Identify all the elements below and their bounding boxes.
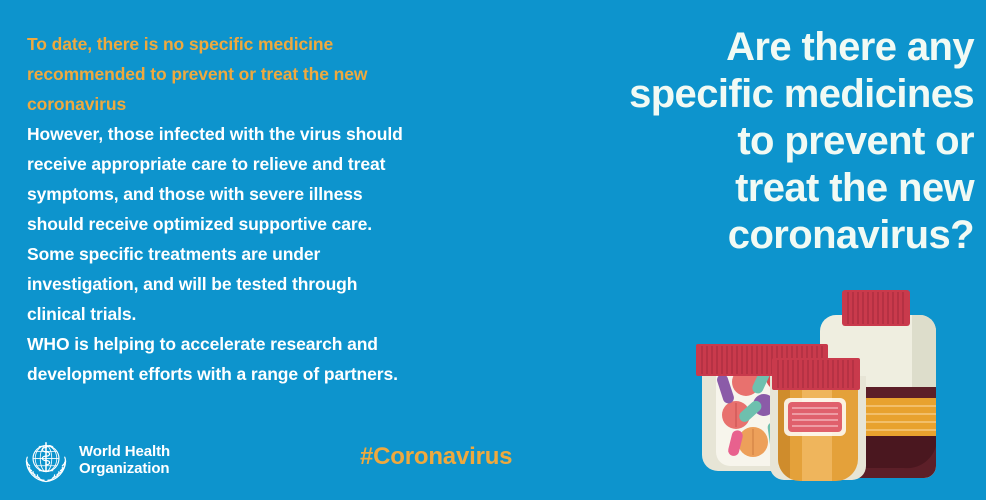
headline-line: to prevent or [554,118,974,165]
bottle-cap-middle [772,358,860,390]
body-copy-line: receive appropriate care to relieve and … [27,149,547,179]
who-logo: World Health Organization [22,436,170,484]
body-copy-line: recommended to prevent or treat the new [27,59,547,89]
bottle-label-middle [784,398,846,436]
headline-line: treat the new [554,165,974,212]
body-copy-line: Some specific treatments are under [27,239,547,269]
body-copy-line: development efforts with a range of part… [27,359,547,389]
headline-line: specific medicines [554,71,974,118]
headline-line: coronavirus? [554,212,974,259]
body-copy-line: symptoms, and those with severe illness [27,179,547,209]
body-copy-line: investigation, and will be tested throug… [27,269,547,299]
body-copy-line: WHO is helping to accelerate research an… [27,329,547,359]
syrup-bottle-middle [770,358,866,490]
hashtag-coronavirus: #Coronavirus [360,443,512,471]
who-infographic-poster: To date, there is no specific medicine r… [0,0,986,500]
body-copy-line: should receive optimized supportive care… [27,209,547,239]
who-wordmark-line1: World Health [79,443,170,460]
headline-block: Are there any specific medicines to prev… [554,24,974,259]
body-copy-line: coronavirus [27,89,547,119]
who-emblem-icon [22,436,70,484]
headline-line: Are there any [554,24,974,71]
medicine-bottles-illustration [690,270,986,500]
body-copy-line: To date, there is no specific medicine [27,29,547,59]
body-copy-line: clinical trials. [27,299,547,329]
body-copy-line: However, those infected with the virus s… [27,119,547,149]
body-copy-block: To date, there is no specific medicine r… [27,29,547,389]
who-wordmark: World Health Organization [79,443,170,477]
who-wordmark-line2: Organization [79,460,170,477]
